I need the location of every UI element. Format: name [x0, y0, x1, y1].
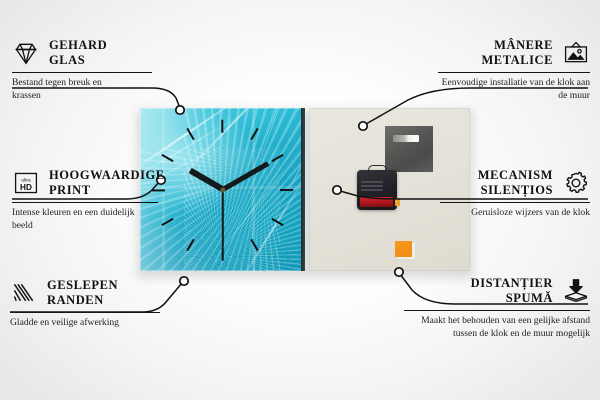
feature-rule	[438, 72, 590, 73]
feature-description: Geruisloze wijzers van de klok	[440, 207, 590, 220]
feature-geslepen-randen: GESLEPENRANDEN Gladde en veilige afwerki…	[10, 278, 166, 330]
feature-gehard-glas: GEHARDGLAS Bestand tegen breuk en krasse…	[12, 38, 162, 103]
mount-slot	[393, 135, 419, 142]
framed-picture-icon	[562, 40, 590, 66]
feature-rule	[12, 72, 152, 73]
clock-second-hand	[222, 189, 224, 247]
feature-title: GESLEPENRANDEN	[47, 278, 118, 308]
battery	[360, 197, 393, 207]
feature-title: HOOGWAARDIGEPRINT	[49, 168, 165, 198]
wall-mount-plate	[385, 126, 433, 172]
movement-ridge	[361, 185, 383, 187]
battery-terminal	[395, 198, 400, 206]
glass-edge	[301, 108, 305, 271]
feature-rule	[404, 310, 590, 311]
clock-tick	[221, 119, 223, 132]
feature-manere-metalice: MÂNEREMETALICE Eenvoudige installatie va…	[438, 38, 590, 103]
connector-dot-randen	[180, 277, 188, 285]
ultra-hd-icon: ultra HD	[12, 170, 40, 196]
bevelled-edges-icon	[10, 280, 38, 306]
infographic-stage: GEHARDGLAS Bestand tegen breuk en krasse…	[0, 0, 600, 400]
feature-header: DISTANȚIERSPUMĂ	[402, 276, 590, 306]
svg-text:HD: HD	[20, 183, 32, 192]
feature-rule	[12, 202, 158, 203]
diamond-icon	[12, 40, 40, 66]
feature-description: Intense kleuren en een duidelijk beeld	[12, 207, 137, 233]
clock-tick	[280, 189, 293, 191]
movement-hanger	[368, 165, 387, 173]
feature-description: Maakt het behouden van een gelijke afsta…	[402, 315, 590, 341]
feature-rule	[10, 312, 160, 313]
feature-title: MECANISMSILENȚIOS	[478, 168, 553, 198]
clock-tick	[221, 247, 223, 260]
feature-description: Eenvoudige installatie van de klok aan d…	[438, 77, 590, 103]
feature-description: Bestand tegen breuk en krassen	[12, 77, 132, 103]
gear-icon	[562, 170, 590, 196]
feature-mecanism-silentios: MECANISMSILENȚIOS Geruisloze wijzers van…	[440, 168, 590, 220]
feature-rule	[440, 202, 590, 203]
feature-header: GESLEPENRANDEN	[10, 278, 166, 308]
movement-ridge	[361, 189, 383, 191]
feature-header: GEHARDGLAS	[12, 38, 162, 68]
feature-distantier-spuma: DISTANȚIERSPUMĂ Maakt het behouden van e…	[402, 276, 590, 341]
product-image	[140, 108, 470, 273]
feature-description: Gladde en veilige afwerking	[10, 317, 160, 330]
spacer-press-icon	[562, 278, 590, 304]
clock-center-pin	[220, 187, 225, 192]
quartz-movement	[357, 170, 397, 210]
feature-hoogwaardige-print: ultra HD HOOGWAARDIGEPRINT Intense kleur…	[12, 168, 164, 233]
clock-front-panel	[140, 108, 305, 271]
feature-header: ultra HD HOOGWAARDIGEPRINT	[12, 168, 164, 198]
feature-title: MÂNEREMETALICE	[481, 38, 553, 68]
feature-header: MÂNEREMETALICE	[438, 38, 590, 68]
feature-header: MECANISMSILENȚIOS	[440, 168, 590, 198]
feature-title: GEHARDGLAS	[49, 38, 107, 68]
movement-ridge	[361, 181, 383, 183]
foam-spacer	[395, 241, 412, 257]
feature-title: DISTANȚIERSPUMĂ	[471, 276, 553, 306]
